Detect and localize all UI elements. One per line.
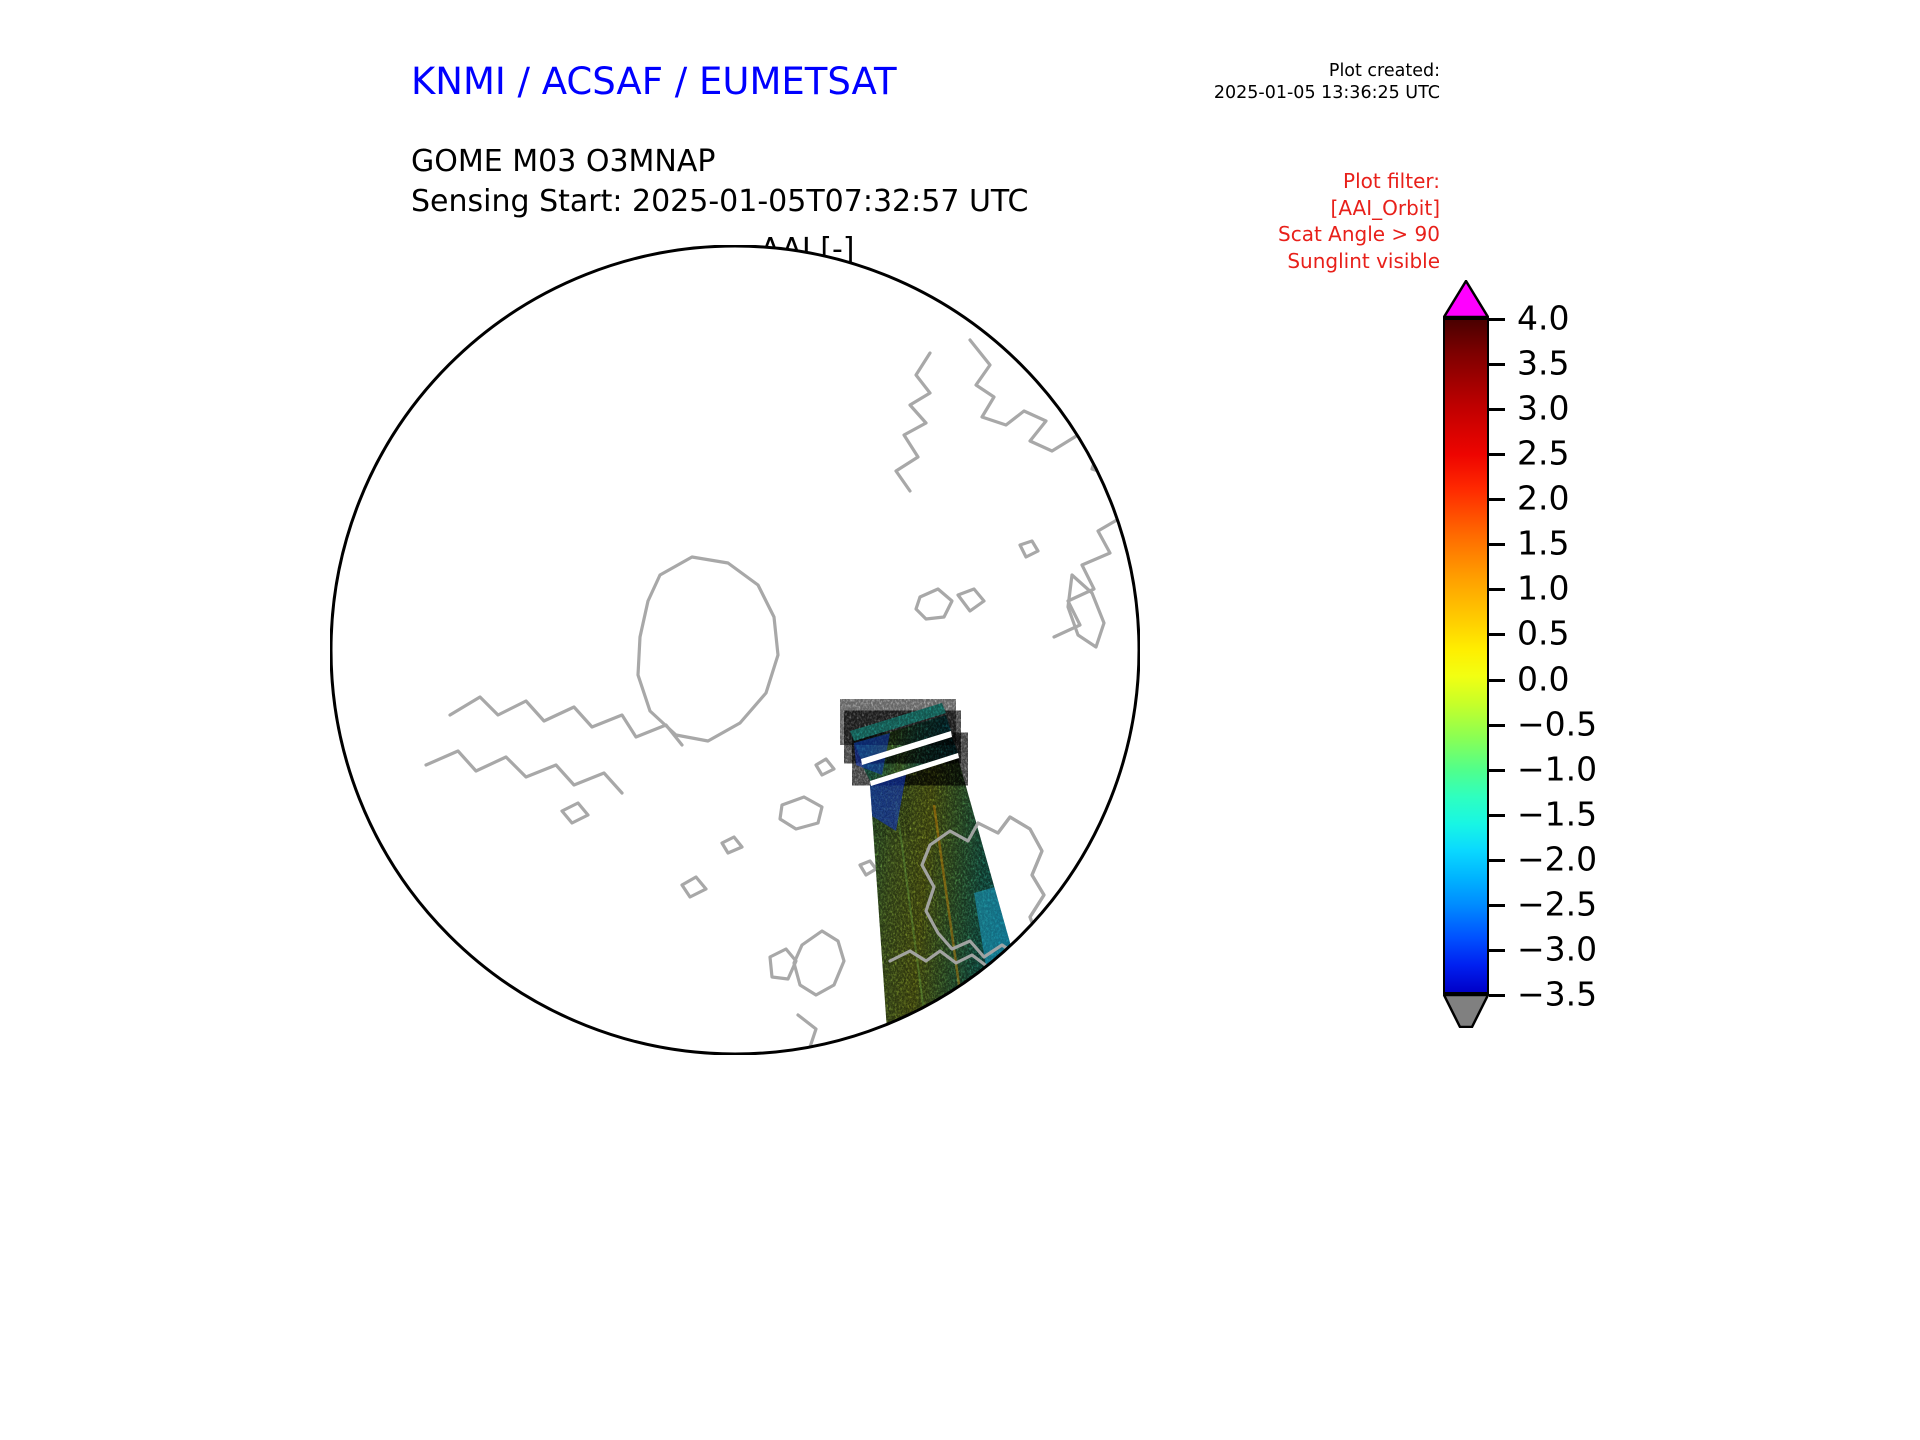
colorbar-tick-mark	[1489, 904, 1505, 907]
colorbar-tick-mark	[1489, 949, 1505, 952]
plot-filter-heading: Plot filter:	[1180, 168, 1440, 195]
colorbar-tick-label: 0.0	[1517, 659, 1569, 698]
colorbar-tick-label: −3.5	[1517, 975, 1597, 1014]
colorbar-tick-label: 3.5	[1517, 344, 1569, 383]
colorbar-tick-label: 0.5	[1517, 614, 1569, 653]
colorbar-tick-mark	[1489, 543, 1505, 546]
colorbar-tick-label: 4.0	[1517, 299, 1569, 338]
colorbar-tick-mark	[1489, 363, 1505, 366]
map-canvas	[330, 245, 1140, 1055]
colorbar-tick-label: 2.0	[1517, 479, 1569, 518]
sensing-start-title: Sensing Start: 2025-01-05T07:32:57 UTC	[411, 182, 1028, 222]
colorbar-tick-mark	[1489, 408, 1505, 411]
colorbar-tick-mark	[1489, 498, 1505, 501]
organisation-title: KNMI / ACSAF / EUMETSAT	[411, 60, 897, 103]
colorbar-tick-mark	[1489, 814, 1505, 817]
plot-filter-line-2: Scat Angle > 90	[1180, 221, 1440, 248]
colorbar-tick-mark	[1489, 724, 1505, 727]
colorbar-tick-label: 1.5	[1517, 524, 1569, 563]
globe-disc	[331, 246, 1139, 1054]
plot-filter-line-1: [AAI_Orbit]	[1180, 195, 1440, 222]
colorbar-tick-label: −3.0	[1517, 929, 1597, 968]
colorbar-tick-label: −2.0	[1517, 839, 1597, 878]
instrument-title: GOME M03 O3MNAP	[411, 142, 1028, 182]
plot-title-block: GOME M03 O3MNAP Sensing Start: 2025-01-0…	[411, 142, 1028, 222]
colorbar-tick-mark	[1489, 769, 1505, 772]
colorbar-tick-mark	[1489, 318, 1505, 321]
colorbar-tick-label: 3.0	[1517, 389, 1569, 428]
colorbar-over-range-arrow	[1443, 280, 1489, 318]
colorbar-tick-mark	[1489, 453, 1505, 456]
colorbar-tick-label: −1.5	[1517, 794, 1597, 833]
plot-created-timestamp: 2025-01-05 13:36:25 UTC	[1110, 82, 1440, 104]
colorbar-tick-mark	[1489, 633, 1505, 636]
plot-created-label: Plot created:	[1110, 60, 1440, 82]
polar-map	[330, 245, 1140, 1055]
plot-filter-block: Plot filter: [AAI_Orbit] Scat Angle > 90…	[1180, 168, 1440, 274]
colorbar-tick-label: 1.0	[1517, 569, 1569, 608]
plot-filter-line-3: Sunglint visible	[1180, 248, 1440, 275]
colorbar-under-range-arrow	[1443, 994, 1489, 1028]
colorbar-tick-mark	[1489, 679, 1505, 682]
colorbar-tick-label: 2.5	[1517, 434, 1569, 473]
colorbar-tick-label: −2.5	[1517, 884, 1597, 923]
colorbar-tick-label: −1.0	[1517, 749, 1597, 788]
colorbar-tick-mark	[1489, 859, 1505, 862]
colorbar-tick-label: −0.5	[1517, 704, 1597, 743]
colorbar-tick-mark	[1489, 588, 1505, 591]
colorbar-gradient	[1443, 318, 1489, 994]
colorbar: 4.03.53.02.52.01.51.00.50.0−0.5−1.0−1.5−…	[1425, 280, 1675, 1070]
plot-created-block: Plot created: 2025-01-05 13:36:25 UTC	[1110, 60, 1440, 104]
colorbar-tick-mark	[1489, 994, 1505, 997]
